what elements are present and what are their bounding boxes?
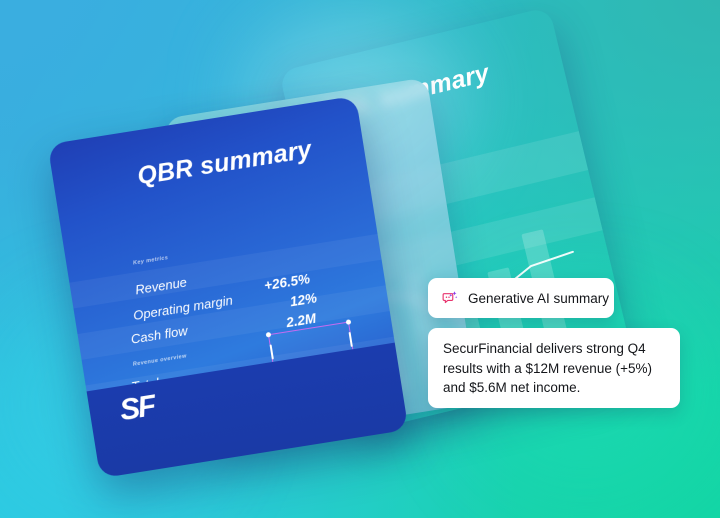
generative-ai-summary-header[interactable]: Generative AI summary (428, 278, 614, 318)
ai-summary-text: SecurFinancial delivers strong Q4 result… (443, 339, 665, 398)
section-label-revenue-overview: Revenue overview (133, 353, 188, 367)
ai-sparkle-chat-icon (442, 290, 459, 307)
screenshot-canvas: $20 $80 P&L summary QBR summary Key metr… (0, 0, 720, 518)
securfinancial-logo: SF (118, 391, 157, 426)
section-label-key-metrics: Key metrics (133, 255, 169, 266)
qbr-card-title: QBR summary (135, 135, 313, 191)
generative-ai-summary-body[interactable]: SecurFinancial delivers strong Q4 result… (428, 328, 680, 408)
selection-handle-right[interactable] (349, 332, 353, 347)
selection-handle-top-right[interactable] (346, 319, 352, 325)
qbr-summary-card[interactable]: QBR summary Key metrics Revenue +26.5% O… (47, 96, 408, 479)
generative-ai-summary-label: Generative AI summary (468, 291, 609, 306)
selection-handle-top-left[interactable] (266, 332, 272, 338)
